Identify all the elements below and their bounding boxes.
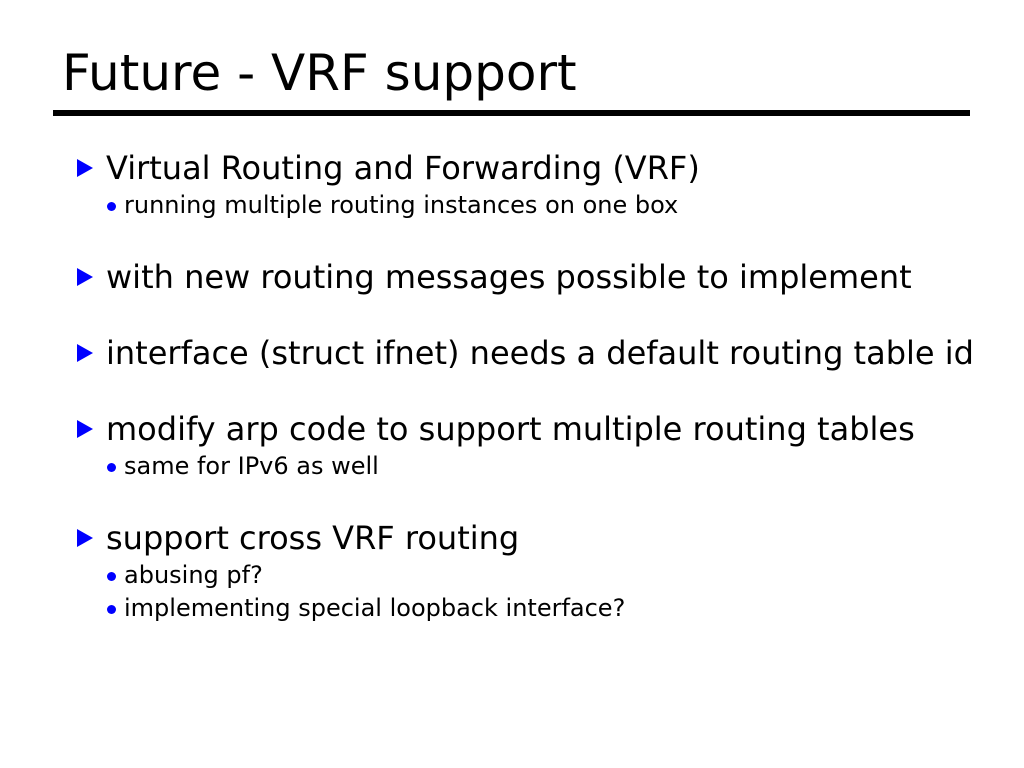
bullet-level2-label: implementing special loopback interface? [124, 592, 984, 625]
bullet-level1: interface (struct ifnet) needs a default… [0, 333, 1024, 374]
bullet-level2: running multiple routing instances on on… [0, 189, 1024, 222]
bullet-level2-label: running multiple routing instances on on… [124, 189, 984, 222]
triangle-right-bullet-icon [77, 529, 93, 547]
bullet-level1-label: with new routing messages possible to im… [106, 257, 984, 298]
group-spacer [0, 483, 1024, 518]
triangle-right-bullet-icon [77, 344, 93, 362]
bullet-level1-label: interface (struct ifnet) needs a default… [106, 333, 984, 374]
dot-bullet-icon [107, 572, 116, 581]
bullet-level1-label: modify arp code to support multiple rout… [106, 409, 984, 450]
bullet-level1-label: support cross VRF routing [106, 518, 984, 559]
bullet-level2-label: abusing pf? [124, 559, 984, 592]
group-spacer [0, 298, 1024, 333]
bullet-group: interface (struct ifnet) needs a default… [0, 333, 1024, 374]
triangle-right-bullet-icon [77, 268, 93, 286]
bullet-level1-label: Virtual Routing and Forwarding (VRF) [106, 148, 984, 189]
slide-title: Future - VRF support [62, 48, 577, 98]
dot-bullet-icon [107, 463, 116, 472]
triangle-right-bullet-icon [77, 159, 93, 177]
bullet-level2: abusing pf? [0, 559, 1024, 592]
group-spacer [0, 374, 1024, 409]
slide-body-bullet-list: Virtual Routing and Forwarding (VRF) run… [0, 148, 1024, 625]
bullet-level2: implementing special loopback interface? [0, 592, 1024, 625]
bullet-level1: with new routing messages possible to im… [0, 257, 1024, 298]
title-underline-rule [53, 110, 970, 116]
bullet-level1: support cross VRF routing [0, 518, 1024, 559]
bullet-level2-label: same for IPv6 as well [124, 450, 984, 483]
triangle-right-bullet-icon [77, 420, 93, 438]
group-spacer [0, 222, 1024, 257]
bullet-group: Virtual Routing and Forwarding (VRF) run… [0, 148, 1024, 222]
bullet-group: modify arp code to support multiple rout… [0, 409, 1024, 483]
bullet-level1: modify arp code to support multiple rout… [0, 409, 1024, 450]
bullet-level2: same for IPv6 as well [0, 450, 1024, 483]
dot-bullet-icon [107, 202, 116, 211]
bullet-group: with new routing messages possible to im… [0, 257, 1024, 298]
bullet-group: support cross VRF routing abusing pf? im… [0, 518, 1024, 625]
presentation-slide: Future - VRF support Virtual Routing and… [0, 0, 1024, 768]
dot-bullet-icon [107, 605, 116, 614]
bullet-level1: Virtual Routing and Forwarding (VRF) [0, 148, 1024, 189]
